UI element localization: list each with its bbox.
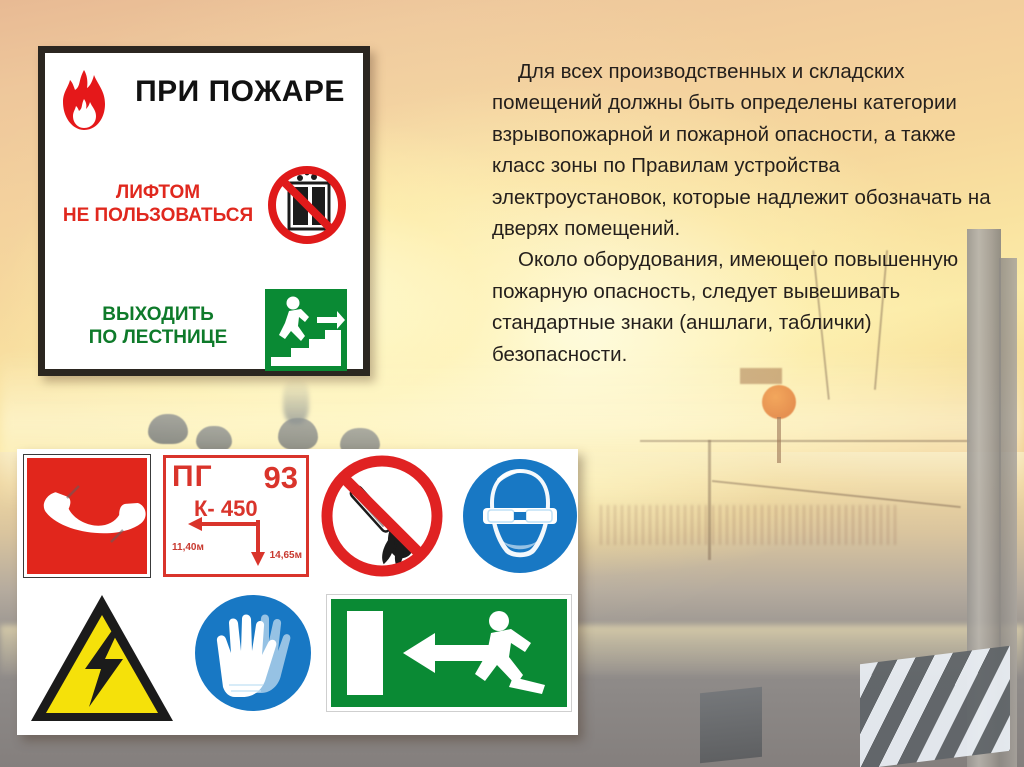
no-elevator-line-1: ЛИФТОМ [51,181,265,204]
stairs-emergency-exit-icon [265,289,347,371]
use-stairs-line-1: ВЫХОДИТЬ [51,303,265,326]
safety-goggles-icon [457,453,583,579]
fire-evacuation-sign: ПРИ ПОЖАРЕ ЛИФТОМ НЕ ПОЛЬЗОВАТЬСЯ [38,46,370,376]
fence-wire-horizontal [640,440,970,442]
barrier-base [700,687,762,764]
telephone-handset-icon [27,458,147,574]
striped-road-barrier [860,646,1010,767]
hydrant-distance-arrows-icon [166,458,312,580]
emergency-exit-left-sign [327,595,571,711]
safety-signs-panel: ПГ 93 К- 450 11,40м 14,65м [17,449,578,735]
smoke-plume [283,378,309,424]
use-stairs-text: ВЫХОДИТЬ ПО ЛЕСТНИЦЕ [51,303,265,349]
background-board [740,368,782,384]
firefighter-helmet-silhouette [148,414,188,444]
paragraph-1: Для всех производственных и складских по… [492,56,997,244]
no-elevator-text: ЛИФТОМ НЕ ПОЛЬЗОВАТЬСЯ [51,181,265,227]
wear-safety-goggles-sign [457,453,583,579]
no-open-flame-icon [319,453,445,579]
electrical-hazard-sign [27,589,177,727]
wear-protective-gloves-sign [189,589,317,717]
fire-hydrant-plate: ПГ 93 К- 450 11,40м 14,65м [163,455,309,577]
lightning-bolt-icon [27,589,177,727]
fire-sign-inner: ПРИ ПОЖАРЕ ЛИФТОМ НЕ ПОЛЬЗОВАТЬСЯ [45,53,363,369]
fire-phone-sign [24,455,150,577]
fence-post-vertical [708,440,711,560]
background-road-sign-icon [762,385,796,419]
running-man-left-arrow-icon [331,599,567,707]
body-text-block: Для всех производственных и складских по… [492,56,997,370]
use-stairs-line-2: ПО ЛЕСТНИЦЕ [51,326,265,349]
no-open-flame-sign [319,453,445,579]
road-sign-post [777,417,781,463]
no-elevator-line-2: НЕ ПОЛЬЗОВАТЬСЯ [51,204,265,227]
no-elevator-prohibition-icon [267,165,347,245]
flame-icon [57,69,111,131]
fire-sign-title: ПРИ ПОЖАРЕ [125,75,355,109]
tree-line [600,505,900,545]
paragraph-2: Около оборудования, имеющего повышенную … [492,244,997,370]
protective-gloves-icon [189,589,317,717]
slide-canvas: ПРИ ПОЖАРЕ ЛИФТОМ НЕ ПОЛЬЗОВАТЬСЯ [0,0,1024,767]
